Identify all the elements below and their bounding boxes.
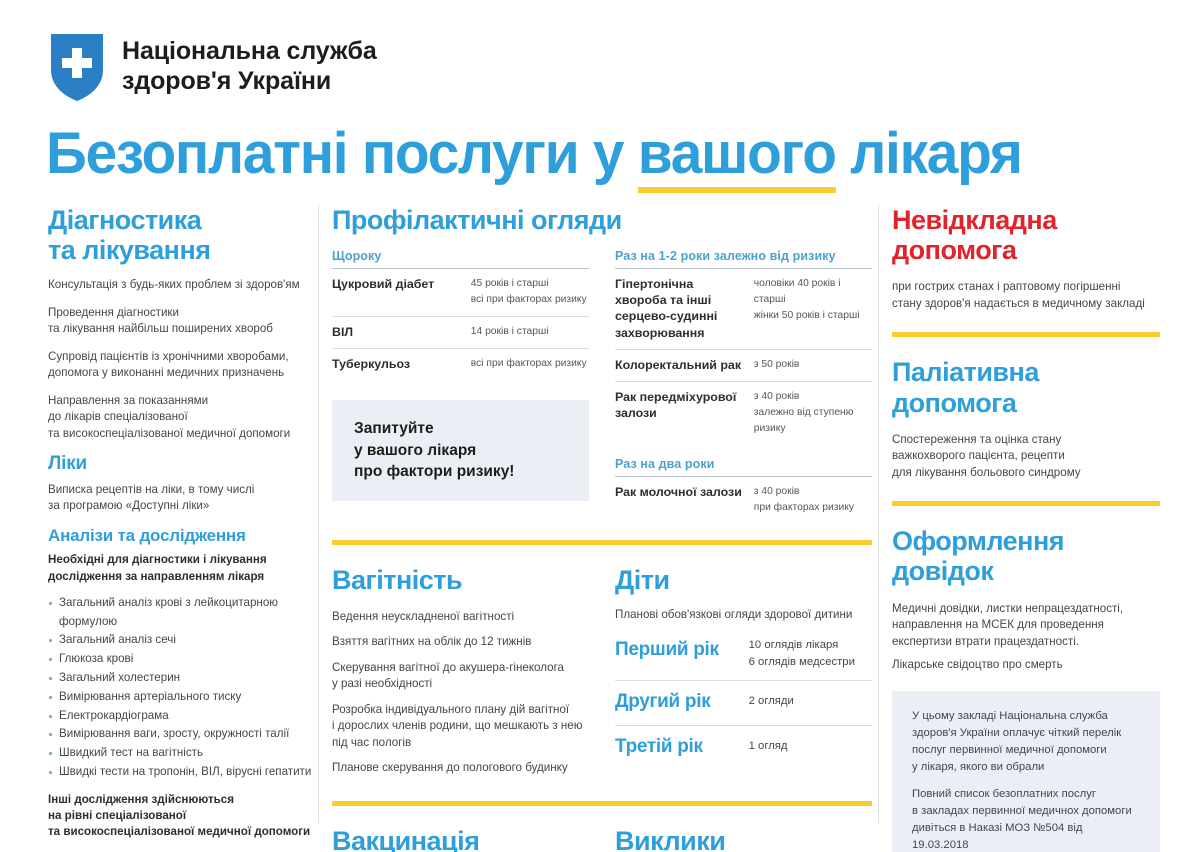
list-item: Глюкоза крові	[48, 650, 316, 669]
preventive-yearly-block: Щороку Цукровий діабет 45 років і старші…	[332, 249, 589, 523]
heading-line-1: Оформлення	[892, 526, 1064, 556]
row-value: чоловіки 40 років і старші жінки 50 рокі…	[754, 269, 872, 350]
title-highlight: вашого	[638, 121, 836, 193]
row-value: 14 років і старші	[471, 317, 589, 349]
diagnostics-item: Супровід пацієнтів із хронічними хвороба…	[48, 349, 316, 382]
subheading-biennial: Раз на два роки	[615, 457, 872, 471]
heading-line-2: допомога	[892, 388, 1016, 418]
heading-line-1: Невідкладна	[892, 205, 1057, 235]
heading-line-2: допомога	[892, 235, 1016, 265]
diagnostics-item: Консультація з будь-яких проблем зі здор…	[48, 277, 316, 293]
medicines-text: Виписка рецептів на ліки, в тому числі з…	[48, 482, 316, 515]
page-title: Безоплатні послуги у вашого лікаря	[46, 124, 1134, 185]
vaccination-housecalls-row: Вакцинація за календарем Гепатит В, тубе…	[332, 826, 872, 852]
emergency-text: при гострих станах і раптовому погіршенн…	[892, 279, 1160, 312]
table-row: Цукровий діабет 45 років і старші всі пр…	[332, 269, 589, 317]
tests-list: Загальний аналіз крові з лейкоцитарною ф…	[48, 594, 316, 782]
table-biennial: Рак молочної залози з 40 років при факто…	[615, 476, 872, 524]
table-yearly: Цукровий діабет 45 років і старші всі пр…	[332, 268, 589, 380]
list-item: Вимірювання артеріального тиску	[48, 688, 316, 707]
palliative-text: Спостереження та оцінка стану важкохворо…	[892, 432, 1160, 481]
tests-intro: Необхідні для діагностики і лікування до…	[48, 552, 316, 584]
section-heading-house-calls: Виклики додому	[615, 826, 872, 852]
preventive-tables: Щороку Цукровий діабет 45 років і старші…	[332, 249, 872, 523]
pregnancy-item: Скерування вагітної до акушера-гінеколог…	[332, 660, 589, 693]
subheading-yearly: Щороку	[332, 249, 589, 263]
section-heading-children: Діти	[615, 565, 872, 595]
section-heading-pregnancy: Вагітність	[332, 565, 589, 595]
org-name-line1: Національна служба	[122, 36, 377, 66]
diagnostics-item: Проведення діагностики та лікування найб…	[48, 305, 316, 338]
row-value: з 40 років залежно від ступеню ризику	[754, 381, 872, 444]
title-part2: лікаря	[836, 121, 1022, 186]
section-heading-certificates: Оформлення довідок	[892, 526, 1160, 586]
row-name: Рак передміхурової залози	[615, 381, 754, 444]
poster-root: Національна служба здоров'я України Безо…	[0, 0, 1200, 852]
pregnancy-children-row: Вагітність Ведення неускладненої вагітно…	[332, 565, 872, 786]
table-row: Колоректальний рак з 50 років	[615, 349, 872, 381]
pregnancy-item: Ведення неускладненої вагітності	[332, 609, 589, 625]
row-value: 1 огляд	[749, 725, 872, 769]
title-part1: Безоплатні послуги у	[46, 121, 638, 186]
row-name: ВІЛ	[332, 317, 471, 349]
section-heading-preventive: Профілактичні огляди	[332, 205, 872, 235]
org-name: Національна служба здоров'я України	[122, 36, 377, 96]
row-value: 10 оглядів лікаря 6 оглядів медсестри	[749, 629, 872, 680]
heading-line-1: Виклики	[615, 826, 725, 852]
row-name: Перший рік	[615, 629, 749, 680]
right-column: Невідкладна допомога при гострих станах …	[892, 205, 1160, 852]
list-item: Вимірювання ваги, зросту, окружності тал…	[48, 725, 316, 744]
section-heading-tests: Аналізи та дослідження	[48, 526, 316, 546]
left-column: Діагностика та лікування Консультація з …	[48, 205, 316, 852]
section-heading-diagnostics: Діагностика та лікування	[48, 205, 316, 265]
list-item: Загальний холестерин	[48, 669, 316, 688]
row-value: всі при факторах ризику	[471, 349, 589, 381]
table-row: Рак молочної залози з 40 років при факто…	[615, 476, 872, 523]
table-row: Третій рік 1 огляд	[615, 725, 872, 769]
pregnancy-block: Вагітність Ведення неускладненої вагітно…	[332, 565, 589, 786]
column-divider-left	[318, 205, 319, 823]
heading-line-2: та лікування	[48, 235, 211, 265]
mid-column: Профілактичні огляди Щороку Цукровий діа…	[332, 205, 872, 852]
shield-cross-icon	[48, 30, 106, 102]
row-name: Туберкульоз	[332, 349, 471, 381]
row-name: Рак молочної залози	[615, 476, 754, 523]
tests-note: Інші дослідження здійснюються на рівні с…	[48, 792, 316, 841]
table-children: Перший рік 10 оглядів лікаря 6 оглядів м…	[615, 629, 872, 769]
house-calls-block: Виклики додому Лікар самостійно визначає…	[615, 826, 872, 852]
table-row: Туберкульоз всі при факторах ризику	[332, 349, 589, 381]
table-row: Гіпертонічна хвороба та інші серцево-суд…	[615, 269, 872, 350]
list-item: Загальний аналіз крові з лейкоцитарною ф…	[48, 594, 316, 632]
list-item: Електрокардіограма	[48, 707, 316, 726]
row-name: Колоректальний рак	[615, 349, 754, 381]
infobox-footer: У цьому закладі Національна служба здоро…	[892, 691, 1160, 852]
table-row: ВІЛ 14 років і старші	[332, 317, 589, 349]
certificates-text-1: Медичні довідки, листки непрацездатності…	[892, 601, 1160, 650]
table-risk: Гіпертонічна хвороба та інші серцево-суд…	[615, 268, 872, 444]
heading-line-1: Паліативна	[892, 357, 1039, 387]
row-name: Гіпертонічна хвороба та інші серцево-суд…	[615, 269, 754, 350]
column-divider-right	[878, 205, 879, 823]
section-heading-vaccination: Вакцинація за календарем	[332, 826, 589, 852]
row-value: 45 років і старші всі при факторах ризик…	[471, 269, 589, 317]
callout-risk-factors: Запитуйте у вашого лікаря про фактори ри…	[332, 400, 589, 500]
org-name-line2: здоров'я України	[122, 66, 377, 96]
row-value: з 40 років при факторах ризику	[754, 476, 872, 523]
vaccination-block: Вакцинація за календарем Гепатит В, тубе…	[332, 826, 589, 852]
infobox-paragraph-1: У цьому закладі Національна служба здоро…	[912, 708, 1140, 776]
diagnostics-item: Направлення за показаннями до лікарів сп…	[48, 393, 316, 442]
heading-line-2: довідок	[892, 556, 993, 586]
heading-line-1: Вакцинація	[332, 826, 479, 852]
list-item: Швидкий тест на вагітність	[48, 744, 316, 763]
section-heading-medicines: Ліки	[48, 453, 316, 475]
subheading-risk: Раз на 1-2 роки залежно від ризику	[615, 249, 872, 263]
row-name: Цукровий діабет	[332, 269, 471, 317]
brand-header: Національна служба здоров'я України	[48, 30, 377, 102]
pregnancy-item: Розробка індивідуального плану дій вагіт…	[332, 702, 589, 751]
pregnancy-item: Планове скерування до пологового будинку	[332, 760, 589, 776]
row-value: з 50 років	[754, 349, 872, 381]
table-row: Рак передміхурової залози з 40 років зал…	[615, 381, 872, 444]
row-value: 2 огляди	[749, 681, 872, 726]
section-heading-palliative: Паліативна допомога	[892, 357, 1160, 417]
children-block: Діти Планові обов'язкові огляди здорової…	[615, 565, 872, 786]
row-name: Другий рік	[615, 681, 749, 726]
list-item: Загальний аналіз сечі	[48, 631, 316, 650]
table-row: Другий рік 2 огляди	[615, 681, 872, 726]
pregnancy-item: Взяття вагітних на облік до 12 тижнів	[332, 634, 589, 650]
section-heading-emergency: Невідкладна допомога	[892, 205, 1160, 265]
infobox-paragraph-2: Повний список безоплатних послуг в закла…	[912, 786, 1140, 852]
preventive-risk-block: Раз на 1-2 роки залежно від ризику Гіпер…	[615, 249, 872, 523]
row-name: Третій рік	[615, 725, 749, 769]
table-row: Перший рік 10 оглядів лікаря 6 оглядів м…	[615, 629, 872, 680]
list-item: Швидкі тести на тропонін, ВІЛ, вірусні г…	[48, 763, 316, 782]
certificates-text-2: Лікарське свідоцтво про смерть	[892, 657, 1160, 673]
children-intro: Планові обов'язкові огляди здорової дити…	[615, 607, 872, 623]
heading-line-1: Діагностика	[48, 205, 201, 235]
